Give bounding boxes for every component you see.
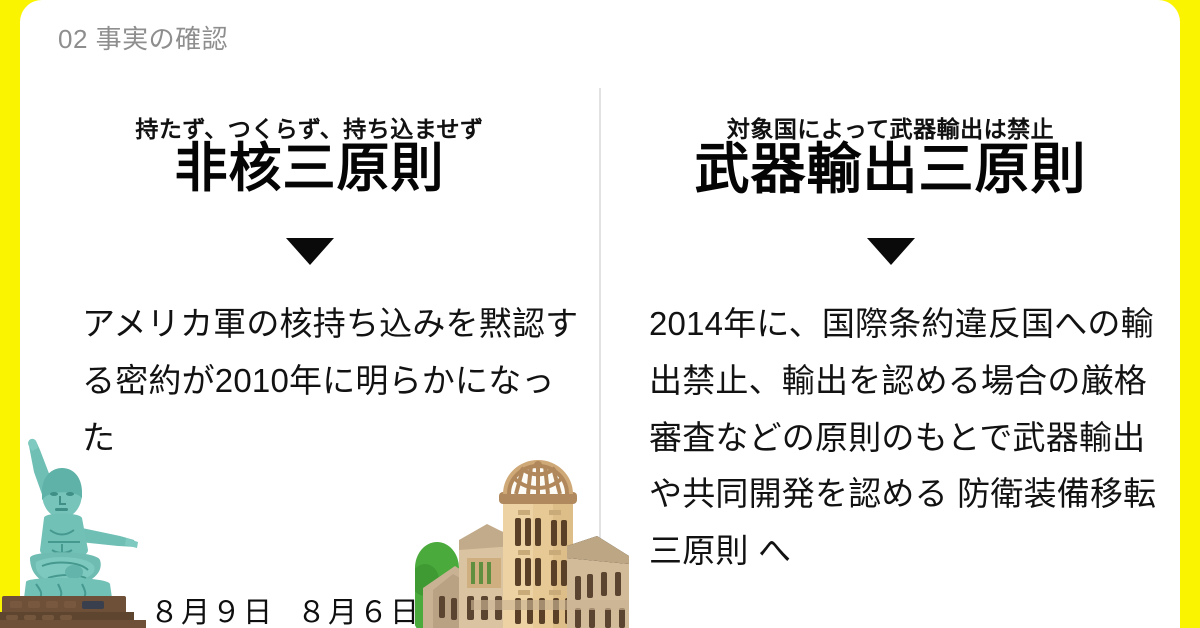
slide-canvas: 02 事実の確認 持たず、つくらず、持ち込ませず 非核三原則 アメリカ軍の核持ち…: [0, 0, 1200, 628]
column-heading-left: 非核三原則: [20, 142, 599, 195]
arrow-down-icon-right: [867, 238, 915, 265]
content-card: 02 事実の確認 持たず、つくらず、持ち込ませず 非核三原則 アメリカ軍の核持ち…: [20, 0, 1180, 628]
column-body-right: 2014年に、国際条約違反国への輸出禁止、輸出を認める場合の厳格審査などの原則の…: [649, 296, 1159, 580]
caption-nagasaki-date: ８月９日: [150, 589, 274, 628]
hiroshima-atomic-bomb-dome-illustration: [415, 440, 630, 628]
column-heading-right-text: 武器輸出三原則: [688, 142, 1092, 197]
nagasaki-peace-statue-illustration: [0, 432, 146, 628]
caption-hiroshima-date: ８月６日: [297, 589, 421, 628]
column-heading-left-text: 非核三原則: [169, 142, 451, 195]
column-heading-right: 武器輸出三原則: [601, 142, 1180, 197]
arrow-down-icon-left: [286, 238, 334, 265]
column-buki-yushutsu-sangensoku: 対象国によって武器輸出は禁止 武器輸出三原則 2014年に、国際条約違反国への輸…: [601, 0, 1180, 628]
